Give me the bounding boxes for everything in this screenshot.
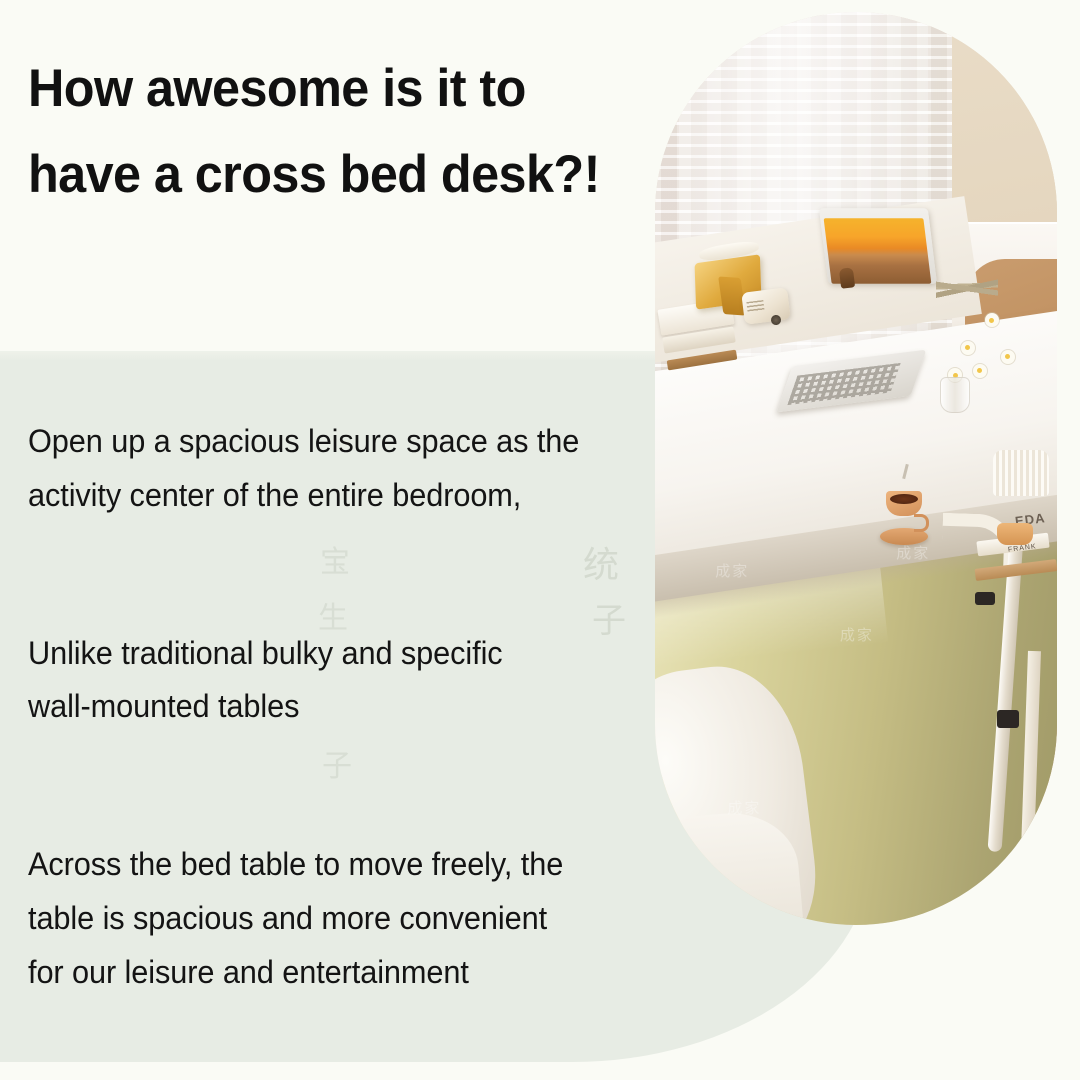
daisy-flower bbox=[1001, 350, 1015, 364]
daisy-flower bbox=[961, 341, 975, 355]
headline-line-1: How awesome is it to bbox=[28, 46, 617, 132]
product-photo: EDA FRANK 成家 成家 成家 成家 bbox=[655, 12, 1057, 925]
radio-speaker-grill bbox=[747, 300, 765, 313]
paragraph-2-line-1: Unlike traditional bulky and specific bbox=[28, 627, 628, 681]
paragraph-3: Across the bed table to move freely, the… bbox=[28, 838, 628, 999]
headline-line-2: have a cross bed desk?! bbox=[28, 132, 617, 218]
daisy-flower bbox=[973, 364, 987, 378]
daisy-flower bbox=[985, 313, 999, 327]
table-lamp bbox=[993, 450, 1049, 496]
laptop-wallpaper-figure bbox=[839, 267, 855, 289]
flower-vase bbox=[940, 377, 970, 413]
infographic-page: 宝 生 子 统 子 How awesome is it to have a cr… bbox=[0, 0, 1080, 1080]
photo-scene: EDA FRANK 成家 成家 成家 成家 bbox=[655, 12, 1057, 925]
paragraph-3-line-2: table is spacious and more convenient bbox=[28, 892, 628, 946]
paragraph-3-line-3: for our leisure and entertainment bbox=[28, 946, 628, 1000]
leg-clamp-lower bbox=[997, 710, 1019, 728]
paragraph-1-line-2: activity center of the entire bedroom, bbox=[28, 469, 628, 523]
page-title: How awesome is it to have a cross bed de… bbox=[28, 46, 617, 218]
flower-stems bbox=[936, 158, 998, 414]
body-copy: Open up a spacious leisure space as the … bbox=[28, 415, 653, 999]
paragraph-1: Open up a spacious leisure space as the … bbox=[28, 415, 628, 523]
paragraph-2: Unlike traditional bulky and specific wa… bbox=[28, 627, 628, 735]
paragraph-1-line-1: Open up a spacious leisure space as the bbox=[28, 415, 628, 469]
paragraph-2-line-2: wall-mounted tables bbox=[28, 680, 628, 734]
lamp-base bbox=[997, 523, 1033, 545]
leg-clamp-upper bbox=[975, 592, 995, 605]
paragraph-3-line-1: Across the bed table to move freely, the bbox=[28, 838, 628, 892]
